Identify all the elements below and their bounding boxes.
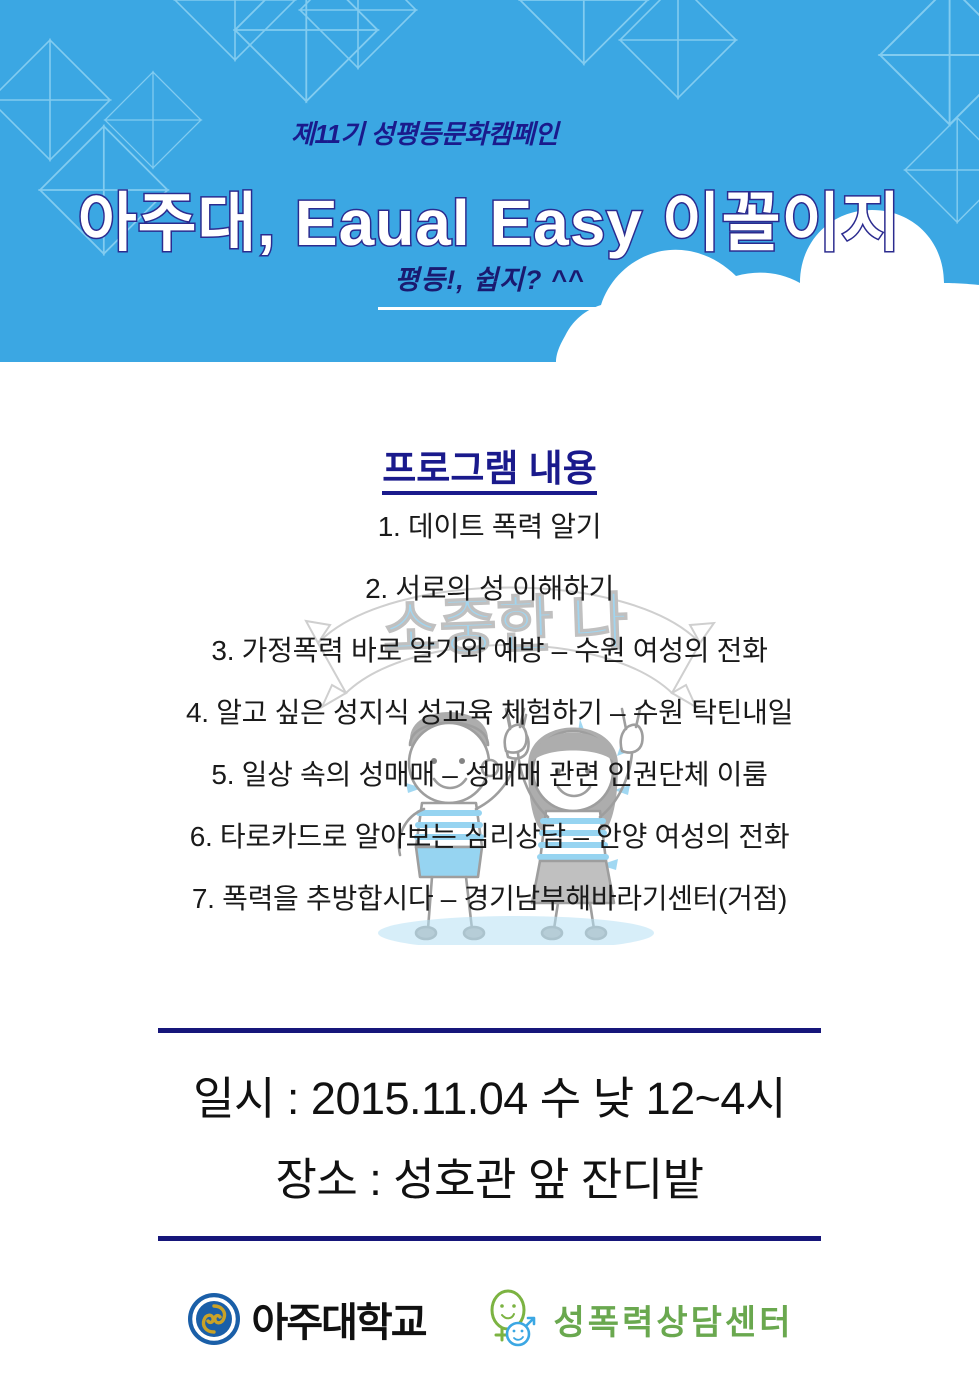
event-date: 일시 : 2015.11.04 수 낮 12~4시 <box>0 1062 979 1127</box>
list-item: 3. 가정폭력 바로 알기와 예방 – 수원 여성의 전화 <box>0 631 979 693</box>
divider-top <box>158 1028 821 1033</box>
list-item: 7. 폭력을 추방합시다 – 경기남부해바라기센터(거점) <box>0 879 979 941</box>
poster-footer: 아주대학교 성폭력상담센터 <box>0 1274 979 1364</box>
logo-counseling-center-label: 성폭력상담센터 <box>554 1295 794 1344</box>
page-title: 아주대, Eaual Easy 이꼴이지 <box>0 172 979 264</box>
logo-ajou-university: 아주대학교 <box>186 1290 426 1348</box>
program-list: 1. 데이트 폭력 알기 2. 서로의 성 이해하기 3. 가정폭력 바로 알기… <box>0 507 979 941</box>
logo-ajou-label: 아주대학교 <box>252 1290 426 1348</box>
subtitle-underline <box>378 307 602 310</box>
list-item: 1. 데이트 폭력 알기 <box>0 507 979 569</box>
campaign-kicker: 제11기 성평등문화캠페인 <box>0 114 979 151</box>
program-section-heading-text: 프로그램 내용 <box>382 448 597 495</box>
counseling-center-figures-icon <box>482 1288 544 1350</box>
list-item: 6. 타로카드로 알아보는 심리상담 – 안양 여성의 전화 <box>0 817 979 879</box>
poster-canvas: 제11기 성평등문화캠페인 아주대, Eaual Easy 이꼴이지 평등!, … <box>0 0 979 1382</box>
poster-header: 제11기 성평등문화캠페인 아주대, Eaual Easy 이꼴이지 평등!, … <box>0 0 979 362</box>
list-item: 5. 일상 속의 성매매 – 성매매 관련 인권단체 이룸 <box>0 755 979 817</box>
divider-bottom <box>158 1236 821 1241</box>
ajou-university-seal-icon <box>186 1291 242 1347</box>
logo-counseling-center: 성폭력상담센터 <box>482 1288 794 1350</box>
list-item: 2. 서로의 성 이해하기 <box>0 569 979 631</box>
list-item: 4. 알고 싶은 성지식 성교육 체험하기 – 수원 탁틴내일 <box>0 693 979 755</box>
program-section-heading: 프로그램 내용 <box>0 438 979 492</box>
handwritten-subtitle: 평등!, 쉽지? ^^ <box>0 258 979 297</box>
event-place: 장소 : 성호관 앞 잔디밭 <box>0 1143 979 1208</box>
